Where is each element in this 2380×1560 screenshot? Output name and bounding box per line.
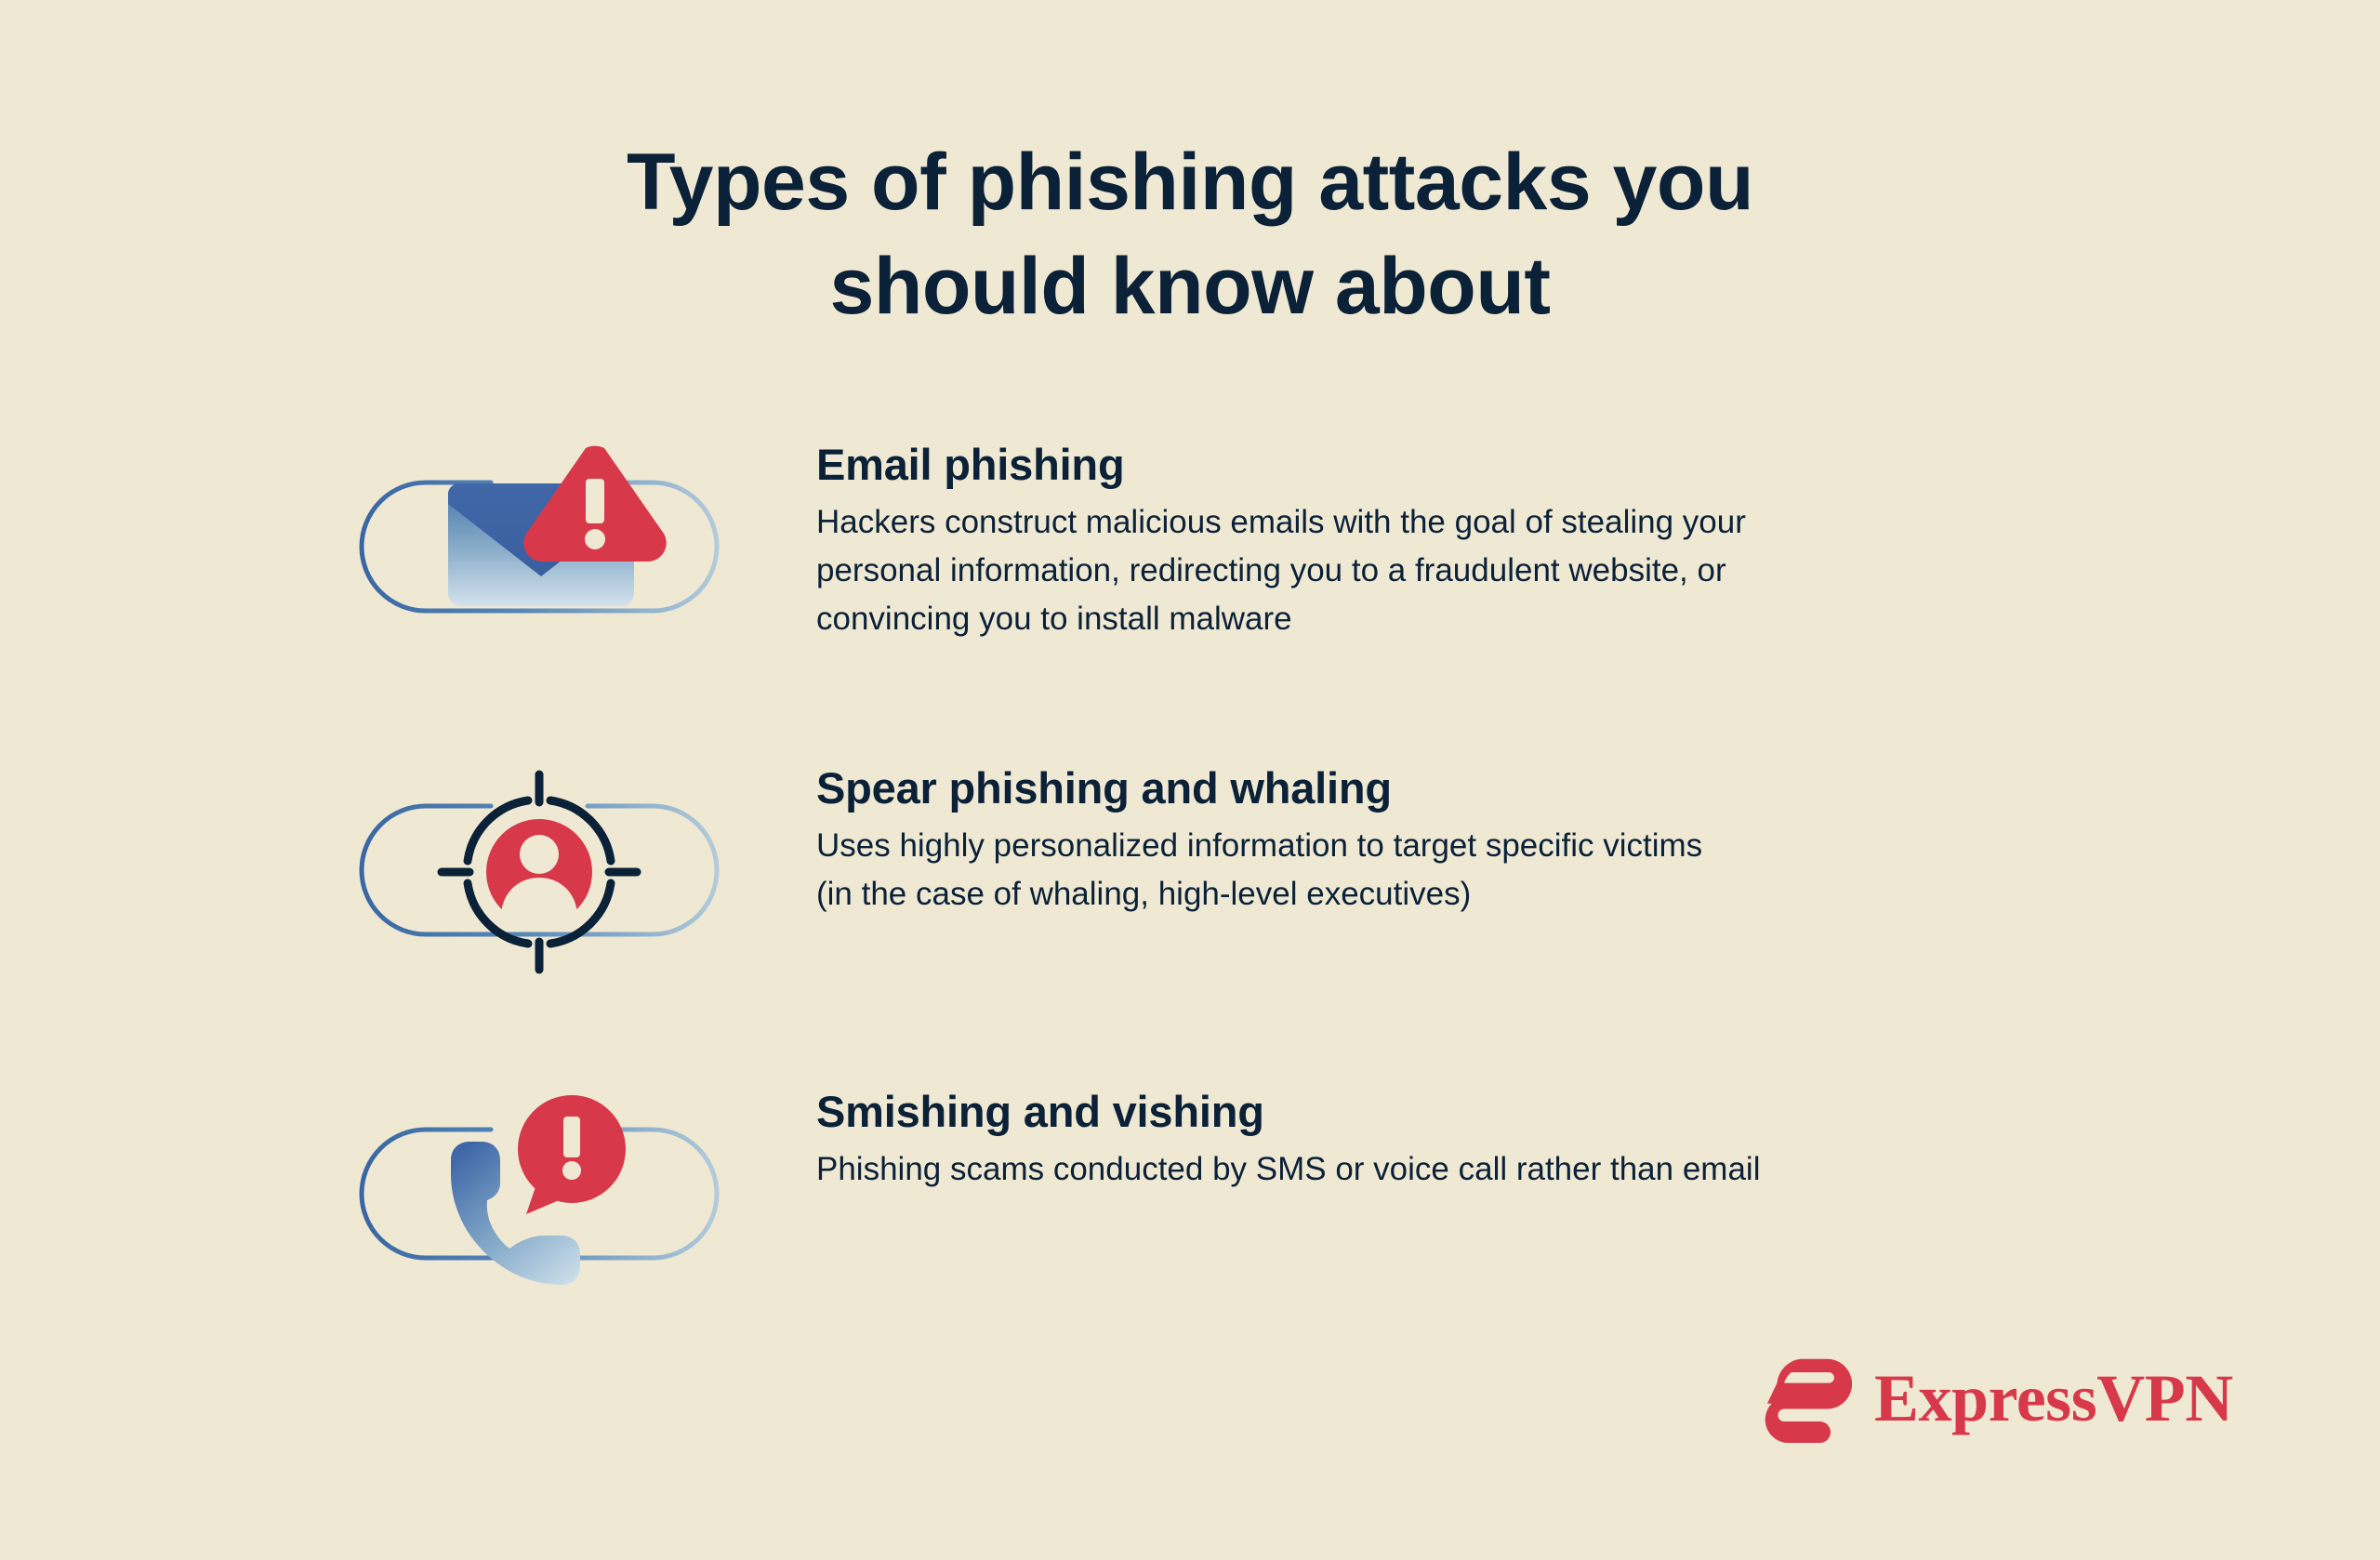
section-body-line: convincing you to install malware	[816, 595, 2053, 643]
section-heading: Smishing and vishing	[816, 1084, 2136, 1140]
section-body: Uses highly personalized information to …	[816, 822, 2053, 919]
page-title-line-2: should know about	[0, 234, 2380, 338]
section-email-phishing: Email phishing Hackers construct malicio…	[0, 437, 2380, 679]
exclamation-dot	[562, 1161, 581, 1180]
target-person-icon	[353, 760, 725, 984]
section-body-line: Uses highly personalized information to …	[816, 822, 2053, 870]
section-smishing-vishing: Smishing and vishing Phishing scams cond…	[0, 1084, 2380, 1326]
email-warning-icon	[353, 437, 725, 660]
section-body-line: personal information, redirecting you to…	[816, 547, 2053, 595]
section-heading: Spear phishing and whaling	[816, 760, 2136, 816]
section-text-smishing-vishing: Smishing and vishing Phishing scams cond…	[816, 1084, 2136, 1194]
section-spear-phishing: Spear phishing and whaling Uses highly p…	[0, 760, 2380, 1002]
section-text-spear-phishing: Spear phishing and whaling Uses highly p…	[816, 760, 2136, 919]
section-body: Hackers construct malicious emails with …	[816, 498, 2053, 643]
section-heading: Email phishing	[816, 437, 2136, 493]
section-body-line: Hackers construct malicious emails with …	[816, 498, 2053, 547]
expressvpn-e-mark-icon	[1765, 1354, 1854, 1443]
section-body-line: Phishing scams conducted by SMS or voice…	[816, 1145, 2053, 1194]
section-body-line: (in the case of whaling, high-level exec…	[816, 870, 2053, 919]
section-text-email-phishing: Email phishing Hackers construct malicio…	[816, 437, 2136, 643]
expressvpn-logo: ExpressVPN	[1765, 1354, 2233, 1443]
expressvpn-wordmark: ExpressVPN	[1874, 1365, 2233, 1432]
page-title: Types of phishing attacks you should kno…	[0, 130, 2380, 338]
section-body: Phishing scams conducted by SMS or voice…	[816, 1145, 2053, 1194]
phone-alert-icon	[353, 1084, 725, 1307]
exclamation-bar	[586, 479, 604, 523]
person-head	[520, 835, 559, 874]
page-title-line-1: Types of phishing attacks you	[0, 130, 2380, 234]
exclamation-bar	[563, 1117, 580, 1157]
exclamation-dot	[585, 529, 605, 549]
